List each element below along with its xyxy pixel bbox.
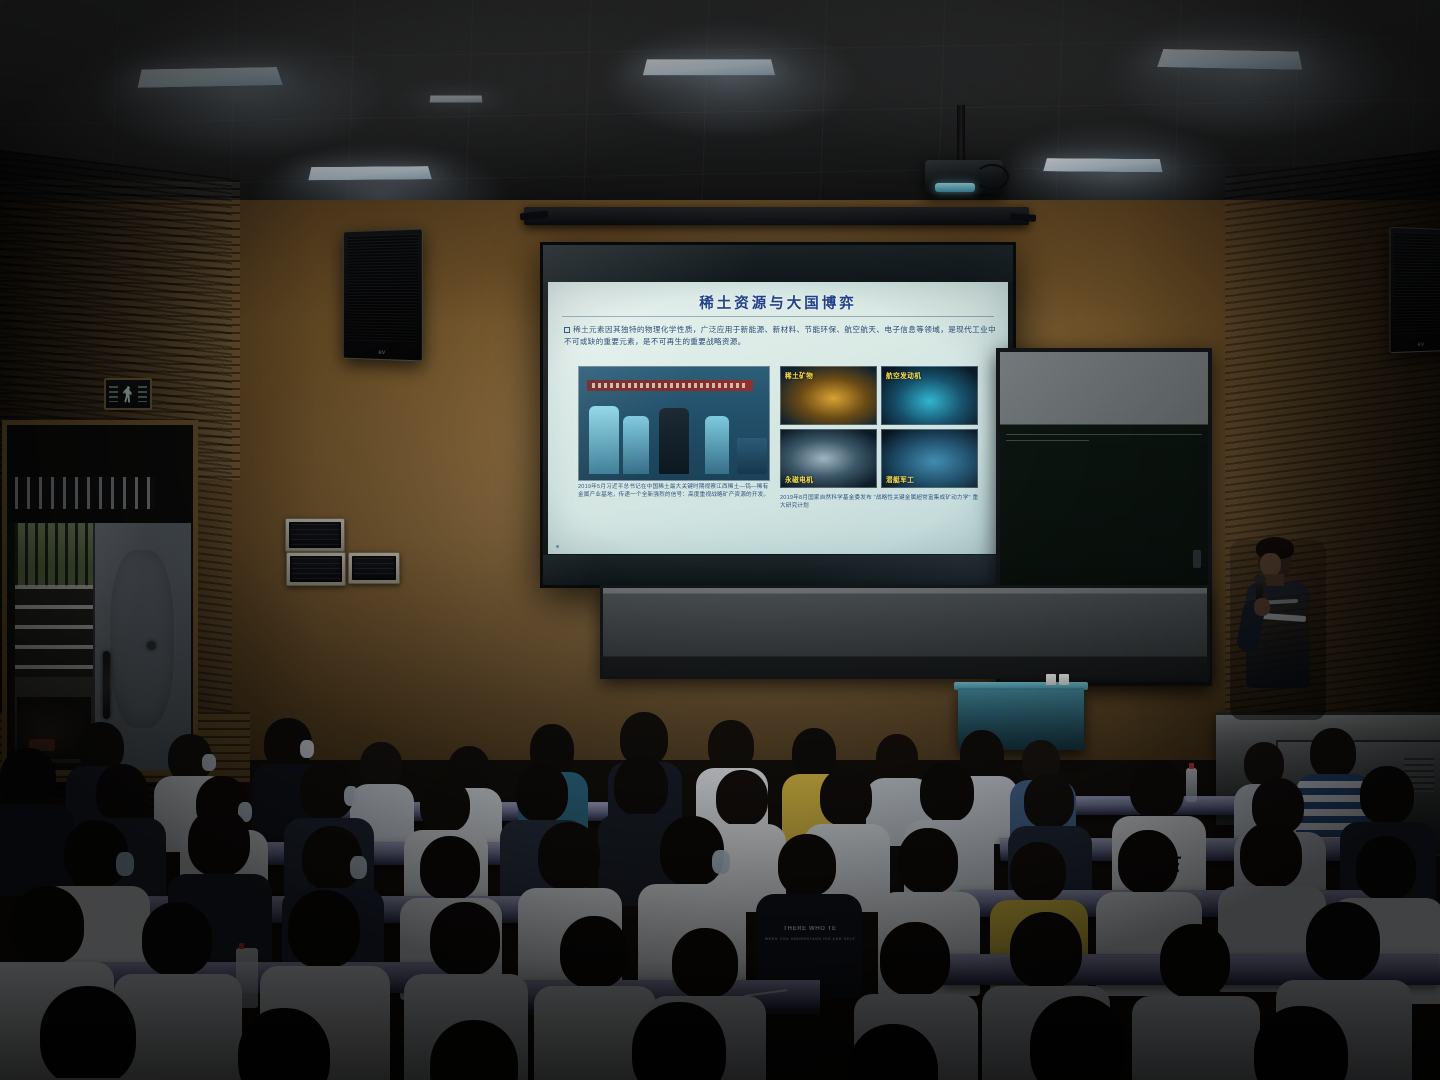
water-bottle[interactable] <box>1186 768 1197 802</box>
speaker-brand-label: ev <box>344 349 422 357</box>
wall-control-panel-1[interactable] <box>285 518 345 552</box>
panel-face <box>289 522 341 548</box>
wall-speaker-left: ev <box>343 229 423 362</box>
head <box>420 778 470 832</box>
face-mask <box>116 852 134 876</box>
door-lock-knob[interactable] <box>147 641 156 650</box>
projector-mount-pole <box>957 105 965 167</box>
head <box>1356 836 1416 900</box>
photo-label: 永磁电机 <box>785 474 813 484</box>
head <box>288 890 360 968</box>
photo-person <box>623 416 649 474</box>
bullet-square-icon <box>564 327 570 333</box>
outdoor-fence-vertical <box>15 523 93 587</box>
lecture-hall-scene: ev ev <box>0 0 1440 1080</box>
head <box>1130 760 1184 818</box>
face-mask <box>300 740 314 758</box>
head <box>430 902 500 976</box>
slide-photo-permanent-magnet-motor: 永磁电机 <box>780 429 877 488</box>
photo-person <box>589 406 619 474</box>
head <box>1024 774 1074 828</box>
photo-equipment <box>737 438 767 474</box>
head <box>1306 902 1380 982</box>
head <box>538 822 600 890</box>
slide-caption-right: 2019年8月国家自然科学基金委发布 "战略性关键金属超常富集成矿动力学" 重大… <box>780 494 980 510</box>
torso <box>0 804 74 896</box>
head <box>1360 766 1414 824</box>
paper-cup[interactable] <box>1046 674 1056 685</box>
head <box>1310 728 1356 778</box>
exit-sign-bars-right <box>138 386 147 402</box>
paper-cup[interactable] <box>1059 674 1069 685</box>
smartphone[interactable] <box>760 1042 810 1068</box>
photo-person <box>659 408 689 474</box>
ceiling-light-panel-3 <box>643 59 775 75</box>
photo-label: 稀土矿物 <box>785 370 813 380</box>
photo-label: 潜艇军工 <box>886 474 914 484</box>
audience-area: NIKE <box>0 690 1440 1080</box>
slide-title: 稀土资源与大国博弈 <box>548 292 1008 313</box>
head <box>0 748 56 808</box>
torso <box>1132 996 1260 1080</box>
head <box>96 764 148 822</box>
ceiling-light-panel-4 <box>1157 49 1302 70</box>
head <box>778 834 836 896</box>
head <box>876 734 918 782</box>
projector-lens <box>935 183 975 192</box>
slide-title-divider <box>562 316 994 317</box>
face-mask <box>350 856 367 879</box>
head <box>614 756 668 816</box>
running-man-icon <box>122 386 134 403</box>
speaker-brand-label: ev <box>1390 341 1440 349</box>
projection-screen: 稀土资源与大国博弈 稀土元素因其独特的物理化学性质，广泛应用于新能源、新材料、节… <box>540 242 1016 588</box>
head <box>420 836 480 900</box>
head <box>40 986 136 1080</box>
slide-page-marker <box>556 545 559 548</box>
head <box>920 762 974 822</box>
photo-label: 航空发动机 <box>886 370 921 380</box>
front-wall-ledge <box>600 585 1210 679</box>
head <box>708 720 754 772</box>
ceiling-light-glow <box>90 30 390 160</box>
head <box>560 916 628 988</box>
wall-speaker-right: ev <box>1389 227 1440 353</box>
head <box>1160 924 1230 998</box>
slide-caption-left: 2019年5月习近平总书记在中国稀土最大关键时期视察江西稀土—钨—稀有金属产业基… <box>578 483 770 499</box>
head <box>10 886 84 964</box>
head <box>792 728 836 778</box>
head <box>516 764 568 822</box>
head <box>1030 996 1126 1080</box>
photo-person <box>705 416 729 474</box>
projection-screen-housing <box>524 207 1029 225</box>
head <box>188 808 250 876</box>
head <box>672 928 738 998</box>
ceiling-projector <box>925 160 1003 194</box>
ceiling-light-panel-5 <box>1043 158 1162 172</box>
head <box>142 902 212 976</box>
slide-photo-grid: 稀土矿物 航空发动机 永磁电机 潜艇军工 <box>780 366 978 488</box>
head <box>820 768 872 826</box>
ceiling-light-panel-1 <box>138 67 283 88</box>
face-mask <box>712 850 730 874</box>
slide-photo-aero-engine: 航空发动机 <box>881 366 978 425</box>
speaker-grill <box>1394 232 1440 334</box>
head <box>1240 822 1302 888</box>
head <box>898 828 958 894</box>
outdoor-fence-horizontal <box>15 585 93 677</box>
presentation-slide: 稀土资源与大国博弈 稀土元素因其独特的物理化学性质，广泛应用于新能源、新材料、节… <box>548 282 1008 554</box>
door-transom <box>7 425 193 523</box>
slide-photo-submarine-defense: 潜艇军工 <box>881 429 978 488</box>
panel-face <box>290 556 342 582</box>
emergency-exit-icon <box>104 378 152 410</box>
speaker-grill <box>347 234 417 342</box>
shirt-subslogan: WHEN YOU UNDERSTAND HIS AND SELF <box>764 936 856 943</box>
slide-photo-inspection <box>578 366 770 481</box>
ceiling-light-glow <box>600 20 860 140</box>
panel-face <box>352 556 396 580</box>
projector-cable <box>975 164 1009 190</box>
screen-letterbox-bottom <box>543 555 1013 585</box>
shirt-slogan: THERE WHO TE <box>764 926 856 933</box>
slide-photo-rare-earth-mineral: 稀土矿物 <box>780 366 877 425</box>
exit-sign-bars-left <box>109 386 118 402</box>
photo-banner <box>587 380 753 391</box>
transom-grille <box>15 477 155 509</box>
head <box>1010 842 1066 902</box>
head <box>880 922 950 996</box>
ceiling-light-panel-6 <box>430 96 483 103</box>
ceiling-light-glow <box>1100 10 1400 140</box>
slide-body-text: 稀土元素因其独特的物理化学性质，广泛应用于新能源、新材料、节能环保、航空航天、电… <box>564 324 996 347</box>
screen-letterbox-top <box>543 245 1013 283</box>
slide-body-content: 稀土元素因其独特的物理化学性质，广泛应用于新能源、新材料、节能环保、航空航天、电… <box>564 325 996 346</box>
wall-control-panel-2[interactable] <box>286 552 346 586</box>
face-mask <box>344 786 358 806</box>
head <box>1010 912 1082 988</box>
face-mask <box>202 754 216 771</box>
head <box>716 770 768 826</box>
head <box>360 742 402 788</box>
wall-control-panel-3[interactable] <box>348 552 400 584</box>
ceiling-light-panel-2 <box>308 166 431 180</box>
head <box>1118 830 1178 894</box>
